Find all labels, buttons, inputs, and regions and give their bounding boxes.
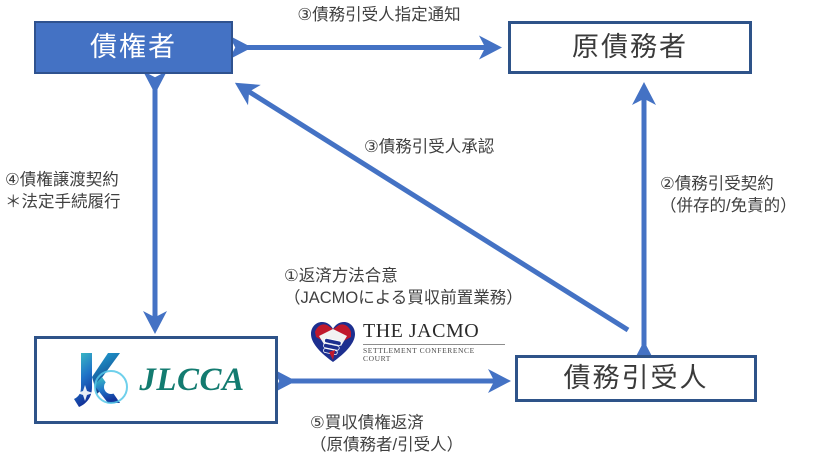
edge-label-notice: ③債務引受人指定通知: [274, 4, 484, 26]
edge-label-assumption-contract: ②債務引受契約 （併存的/免責的）: [660, 173, 832, 218]
node-assumer[interactable]: 債務引受人: [515, 355, 757, 402]
jlcca-wordmark: JLCCA: [139, 362, 244, 399]
edge-label-assignment: ④債権譲渡契約 ＊法定手続履行: [5, 169, 165, 214]
node-original-debtor-label: 原債務者: [572, 33, 688, 63]
node-creditor-label: 債権者: [90, 33, 177, 63]
jacmo-subtitle: SETTLEMENT CONFERENCE COURT: [363, 344, 505, 363]
jacmo-title: THE JACMO: [363, 321, 505, 342]
node-jlcca[interactable]: JLCCA: [34, 336, 278, 424]
node-creditor[interactable]: 債権者: [34, 21, 233, 74]
jacmo-logo: THE JACMO SETTLEMENT CONFERENCE COURT: [309, 317, 505, 366]
handshake-heart-icon: [309, 320, 357, 364]
diagram-canvas: 債権者 原債務者 債務引受人: [0, 0, 832, 463]
node-assumer-label: 債務引受人: [564, 364, 709, 394]
edge-label-approval: ③債務引受人承認: [364, 136, 564, 158]
edge-label-repayment: ⑤買収債権返済 （原債務者/引受人）: [310, 412, 540, 457]
edge-label-repayment-agreement: ①返済方法合意 （JACMOによる買収前置業務）: [284, 265, 584, 310]
jlcca-monogram-icon: [67, 347, 129, 413]
node-original-debtor[interactable]: 原債務者: [508, 21, 752, 74]
